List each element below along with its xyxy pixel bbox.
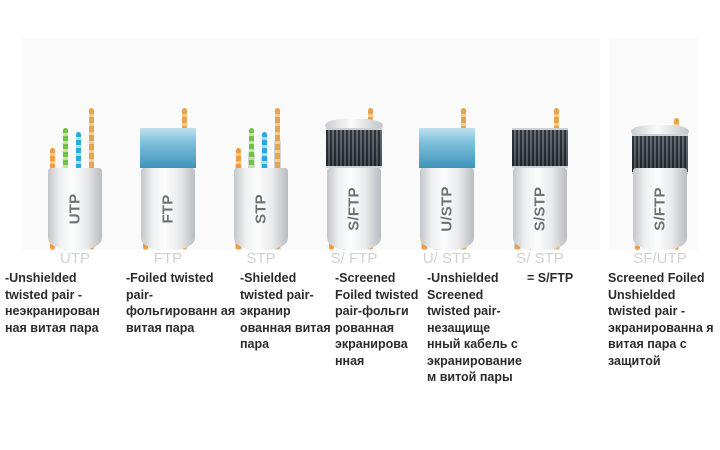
cable-illustration-utp: UTP [29, 38, 121, 250]
cable-illustration-ftp: FTP [122, 38, 214, 250]
cable-body-label: FTP [160, 195, 177, 224]
cable-jacket-s-ftp: S/FTP [327, 168, 381, 250]
cable-body-label: S/FTP [652, 187, 669, 231]
foil-shield-icon [419, 128, 475, 168]
cable-jacket-ftp: FTP [141, 168, 195, 250]
braid-shield-icon [512, 128, 568, 168]
cable-illustration-sf-utp: S/FTP [614, 38, 706, 250]
cable-types-figure: UTP FTP STP [0, 0, 720, 450]
cable-body-label: S/FTP [346, 187, 363, 231]
cable-body-label: U/STP [439, 186, 456, 231]
description-ftp: -Foiled twisted pair-фольгированн ая вит… [126, 270, 238, 336]
caption-stp: STP [215, 250, 307, 270]
foil-shield-icon [140, 128, 196, 168]
caption-s-stp: S/ STP [494, 250, 586, 270]
cable-body-label: S/STP [532, 187, 549, 231]
caption-sf-utp: SF/UTP [614, 250, 706, 270]
description-stp: -Shielded twisted pair-экранир ованная в… [240, 270, 332, 353]
cable-jacket-utp: UTP [48, 168, 102, 250]
band-separator [600, 38, 610, 250]
caption-ftp: FTP [122, 250, 214, 270]
cable-jacket-s-stp: S/STP [513, 168, 567, 250]
caption-utp: UTP [29, 250, 121, 270]
description-utp: -Unshielded twisted pair - неэкранирован… [5, 270, 123, 336]
description-s-ftp: -Screened Foiled twisted pair-фольги ров… [335, 270, 421, 369]
description-sf-utp: Screened Foiled Unshielded twisted pair … [608, 270, 714, 369]
caption-s-ftp: S/ FTP [308, 250, 400, 270]
cable-illustration-s-stp: S/STP [494, 38, 586, 250]
description-s-stp: = S/FTP [527, 270, 607, 287]
cable-body-label: UTP [67, 194, 84, 225]
cable-illustration-u-stp: U/STP [401, 38, 493, 250]
cable-jacket-u-stp: U/STP [420, 168, 474, 250]
cable-illustration-s-ftp: S/FTP [308, 38, 400, 250]
caption-u-stp: U/ STP [401, 250, 493, 270]
cable-illustration-stp: STP [215, 38, 307, 250]
braid-shield-icon [326, 128, 382, 168]
cable-jacket-stp: STP [234, 168, 288, 250]
cable-jacket-sf-utp: S/FTP [633, 168, 687, 250]
cable-body-label: STP [253, 194, 270, 224]
description-u-stp: -Unshielded Screened twisted pair-незащи… [427, 270, 525, 386]
